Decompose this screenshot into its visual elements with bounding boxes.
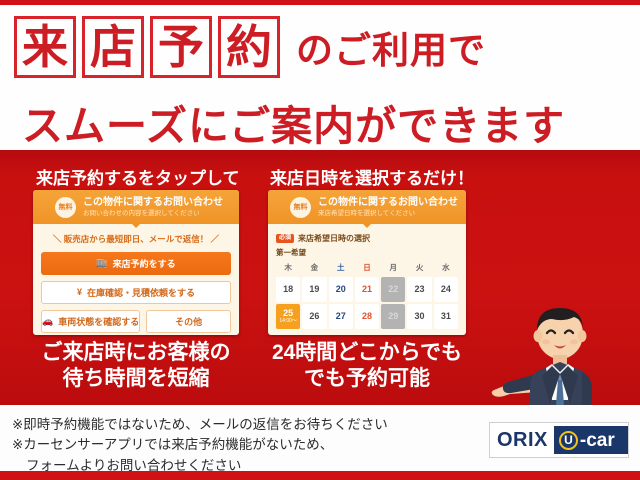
day-number: 21: [362, 285, 372, 294]
calendar-day-cell-disabled: 22: [381, 277, 405, 302]
day-number: 28: [362, 312, 372, 321]
yen-icon: ¥: [77, 288, 82, 297]
right-caption: 24時間どこからでも でも予約可能: [258, 340, 476, 393]
calendar-day-cell[interactable]: 19: [302, 277, 326, 302]
vehicle-condition-button[interactable]: 🚗 車両状態を確認する: [41, 310, 140, 333]
left-mock-header: 無料 この物件に関するお問い合わせ お問い合わせの内容を選択してください: [33, 190, 239, 224]
dow-thu: 木: [276, 262, 300, 275]
calendar-day-cell[interactable]: 28: [355, 304, 379, 329]
kanji-box-4: 約: [218, 16, 280, 78]
headline-tail-text: のご利用で: [296, 20, 486, 74]
day-number: 18: [283, 285, 293, 294]
left-caption: ご来店時にお客様の 待ち時間を短縮: [22, 340, 250, 393]
right-caption-line1: 24時間どこからでも: [258, 340, 476, 366]
day-number: 23: [415, 285, 425, 294]
stock-quote-button[interactable]: ¥ 在庫確認・見積依頼をする: [41, 281, 231, 304]
day-number: 25: [283, 309, 293, 318]
dow-sun: 日: [355, 262, 379, 275]
stock-quote-label: 在庫確認・見積依頼をする: [87, 286, 195, 299]
right-phone-mockup: 無料 この物件に関するお問い合わせ 来店希望日時を選択してください 必須 来店希…: [268, 190, 466, 335]
reserve-visit-button[interactable]: 🏬 来店予約をする: [41, 252, 231, 275]
footer-note-1: ※即時予約機能ではないため、メールの返信をお待ちください: [12, 415, 388, 435]
footer-note-2: ※カーセンサーアプリでは来店予約機能がないため、: [12, 435, 388, 455]
dow-fri: 金: [302, 262, 326, 275]
u-circle-icon: U: [559, 431, 578, 450]
right-mock-subtitle: 来店希望日時を選択してください: [318, 210, 458, 217]
other-button[interactable]: その他: [146, 310, 231, 333]
day-number: 30: [415, 312, 425, 321]
left-mock-subtitle: お問い合わせの内容を選択してください: [83, 210, 223, 217]
dow-sat: 土: [329, 262, 353, 275]
bottom-accent-bar: [0, 471, 640, 480]
footer-notes: ※即時予約機能ではないため、メールの返信をお待ちください ※カーセンサーアプリで…: [12, 415, 388, 476]
headline-row-2: スムーズにご案内ができます: [22, 92, 565, 152]
day-number: 20: [336, 285, 346, 294]
calendar-day-cell[interactable]: 31: [434, 304, 458, 329]
calendar-day-cell[interactable]: 23: [407, 277, 431, 302]
calendar-day-cell[interactable]: 24: [434, 277, 458, 302]
required-field-label: 来店希望日時の選択: [298, 233, 370, 244]
calendar-day-cell[interactable]: 18: [276, 277, 300, 302]
vehicle-condition-label: 車両状態を確認する: [58, 315, 139, 328]
left-phone-mockup: 無料 この物件に関するお問い合わせ お問い合わせの内容を選択してください ＼ 販…: [33, 190, 239, 335]
headline-section: 来 店 予 約 のご利用で スムーズにご案内ができます: [0, 5, 640, 150]
day-number: 27: [336, 312, 346, 321]
kanji-box-1: 来: [14, 16, 76, 78]
calendar-day-cell[interactable]: 26: [302, 304, 326, 329]
left-caption-line1: ご来店時にお客様の: [22, 340, 250, 366]
right-mock-body: 必須 来店希望日時の選択 第一希望 木 金 土 日 月 火 水 18 19 20…: [268, 224, 466, 335]
calendar-day-cell[interactable]: 27: [329, 304, 353, 329]
ucar-wordmark: U -car: [554, 426, 628, 454]
kanji-box-3: 予: [150, 16, 212, 78]
headline-row-1: 来 店 予 約 のご利用で: [14, 16, 486, 78]
right-caption-line2: でも予約可能: [258, 366, 476, 392]
calendar-grid: 木 金 土 日 月 火 水 18 19 20 21 22 23 24 25: [276, 262, 458, 329]
car-icon: 🚗: [42, 317, 53, 326]
kanji-box-2: 店: [82, 16, 144, 78]
notch-triangle-icon: [131, 223, 141, 228]
calendar-day-cell[interactable]: 21: [355, 277, 379, 302]
calendar-day-cell[interactable]: 20: [329, 277, 353, 302]
day-number: 29: [388, 312, 398, 321]
day-number: 26: [309, 312, 319, 321]
required-field-row: 必須 来店希望日時の選択: [276, 233, 458, 244]
preference-label: 第一希望: [276, 247, 458, 258]
calendar-day-cell-selected[interactable]: 25 14:00〜: [276, 304, 300, 329]
left-mock-header-text: この物件に関するお問い合わせ お問い合わせの内容を選択してください: [83, 197, 223, 217]
right-column-label: 来店日時を選択するだけ！: [270, 164, 474, 189]
red-body-section: 来店予約するをタップして 来店日時を選択するだけ！ 無料 この物件に関するお問い…: [0, 150, 640, 405]
left-promo-text: ＼ 販売店から最短即日、メールで返信！ ／: [41, 233, 231, 245]
dow-mon: 月: [381, 262, 405, 275]
day-number: 24: [441, 285, 451, 294]
calendar-day-cell[interactable]: 30: [407, 304, 431, 329]
dow-tue: 火: [407, 262, 431, 275]
promo-banner: 来 店 予 約 のご利用で スムーズにご案内ができます 来店予約するをタップして…: [0, 0, 640, 480]
left-mock-title: この物件に関するお問い合わせ: [83, 197, 223, 209]
left-caption-line2: 待ち時間を短縮: [22, 366, 250, 392]
car-text: -car: [580, 431, 615, 450]
right-mock-header-text: この物件に関するお問い合わせ 来店希望日時を選択してください: [318, 197, 458, 217]
right-mock-title: この物件に関するお問い合わせ: [318, 197, 458, 209]
required-badge: 必須: [276, 234, 294, 243]
day-number: 31: [441, 312, 451, 321]
reserve-visit-label: 来店予約をする: [113, 257, 176, 270]
left-mock-body: ＼ 販売店から最短即日、メールで返信！ ／ 🏬 来店予約をする ¥ 在庫確認・見…: [33, 224, 239, 335]
left-button-row: 🚗 車両状態を確認する その他: [41, 310, 231, 333]
day-number: 19: [309, 285, 319, 294]
day-time-slot: 14:00〜: [279, 319, 297, 324]
dow-wed: 水: [434, 262, 458, 275]
orix-wordmark: ORIX: [497, 429, 548, 452]
right-mock-header: 無料 この物件に関するお問い合わせ 来店希望日時を選択してください: [268, 190, 466, 224]
calendar-day-cell-disabled: 29: [381, 304, 405, 329]
store-icon: 🏬: [96, 259, 107, 268]
day-number: 22: [388, 285, 398, 294]
notch-triangle-icon-right: [362, 223, 372, 228]
free-badge-icon-right: 無料: [290, 197, 311, 218]
left-column-label: 来店予約するをタップして: [36, 164, 240, 189]
other-label: その他: [175, 315, 202, 328]
orix-ucar-logo: ORIX U -car: [489, 422, 629, 458]
free-badge-icon: 無料: [55, 197, 76, 218]
